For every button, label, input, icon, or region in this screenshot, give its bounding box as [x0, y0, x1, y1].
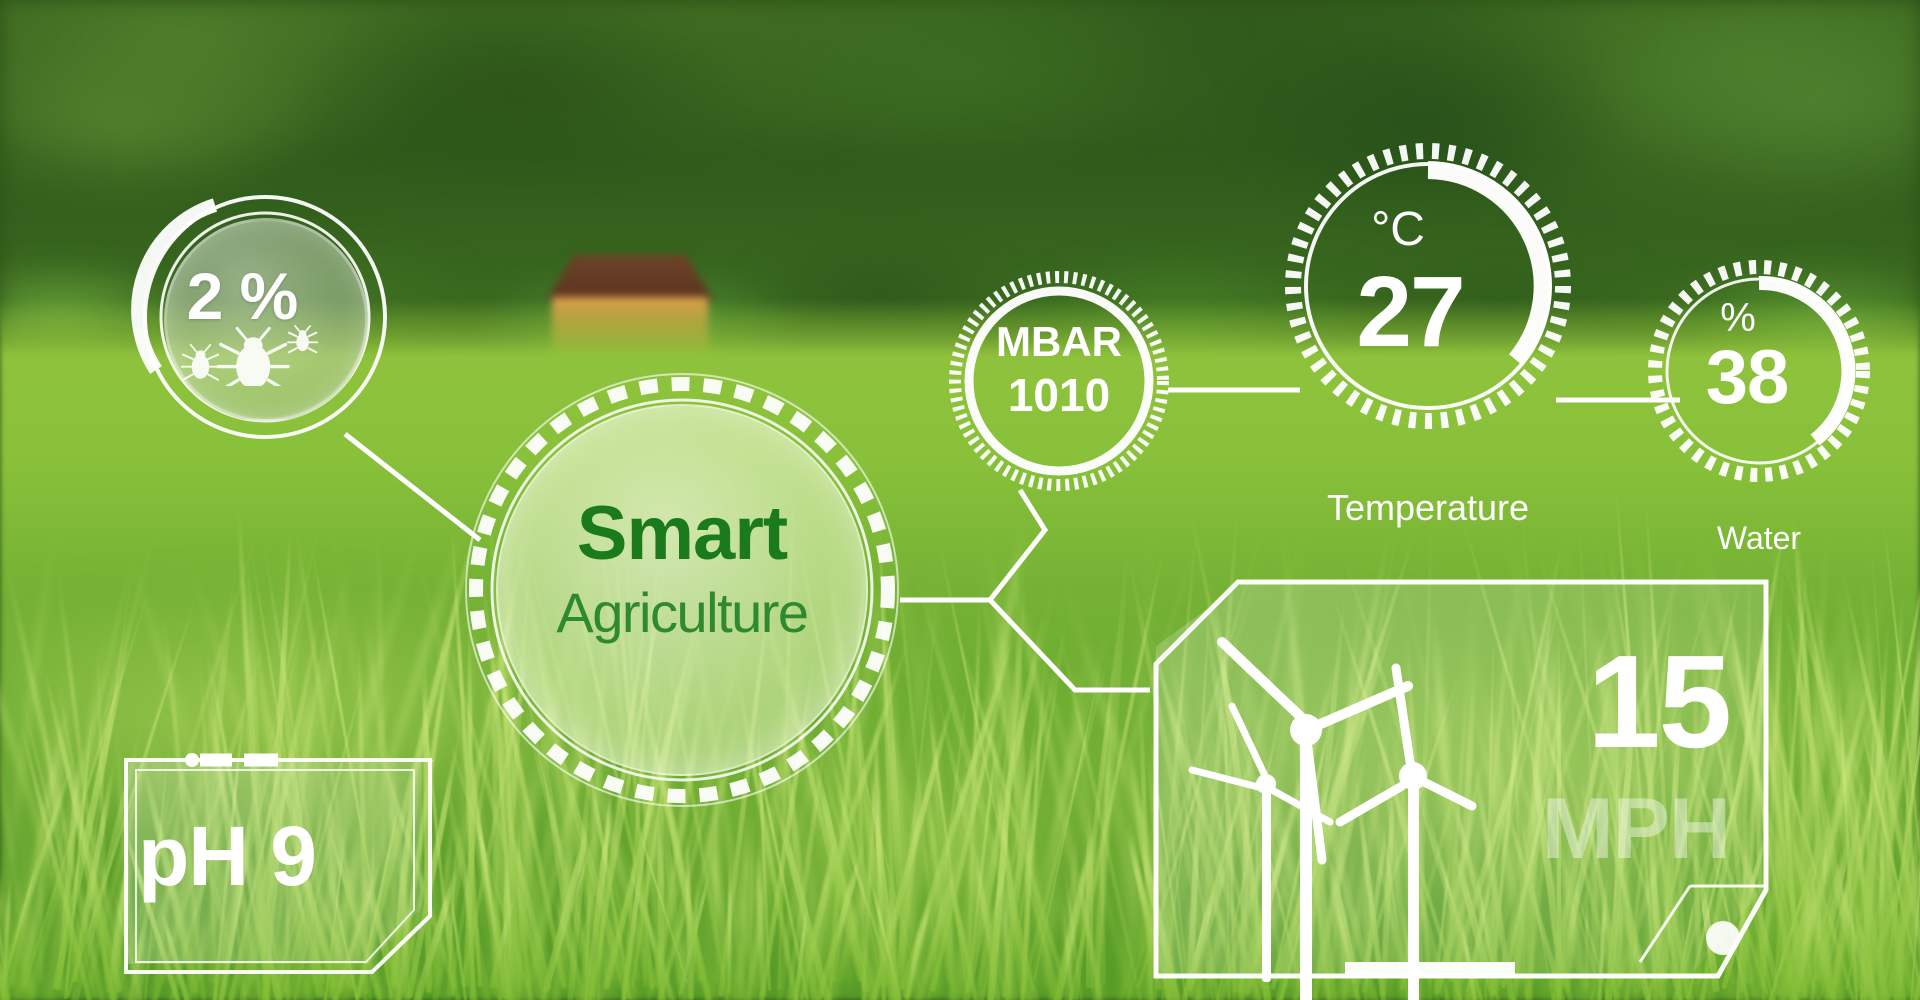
ph-panel[interactable]: pH 9 [118, 752, 430, 972]
pest-value: 2 % [140, 258, 344, 334]
pressure-gauge[interactable]: MBAR 1010 [950, 272, 1168, 490]
temperature-gauge[interactable]: °C 27 [1286, 144, 1570, 428]
water-label: Water [1634, 520, 1884, 557]
temperature-unit: °C [1338, 206, 1458, 254]
temperature-label: Temperature [1286, 487, 1570, 529]
dashboard-stage: 2 % [0, 0, 1920, 1000]
ph-value: pH 9 [138, 814, 418, 898]
water-value: 38 [1662, 340, 1832, 416]
water-unit: % [1688, 298, 1788, 338]
temperature-value: 27 [1300, 262, 1520, 362]
pressure-unit-label: MBAR [950, 318, 1168, 366]
pressure-value: 1010 [950, 368, 1168, 422]
wind-panel[interactable]: 15 MPH [1150, 578, 1770, 980]
wind-speed-value: 15 [1480, 636, 1730, 768]
center-brand-circle[interactable]: Smart Agriculture [472, 380, 892, 800]
connector-pest-to-center [345, 434, 480, 540]
page-subtitle: Agriculture [472, 585, 892, 641]
hud-overlay: 2 % [0, 0, 1920, 1000]
page-title: Smart [472, 496, 892, 572]
connector-center-to-pressure [900, 490, 1045, 600]
pest-gauge[interactable]: 2 % [140, 192, 390, 442]
insects-icon [140, 324, 344, 386]
water-gauge[interactable]: % 38 [1654, 266, 1864, 476]
connector-center-to-wind [990, 600, 1150, 690]
wind-speed-unit: MPH [1450, 786, 1730, 872]
